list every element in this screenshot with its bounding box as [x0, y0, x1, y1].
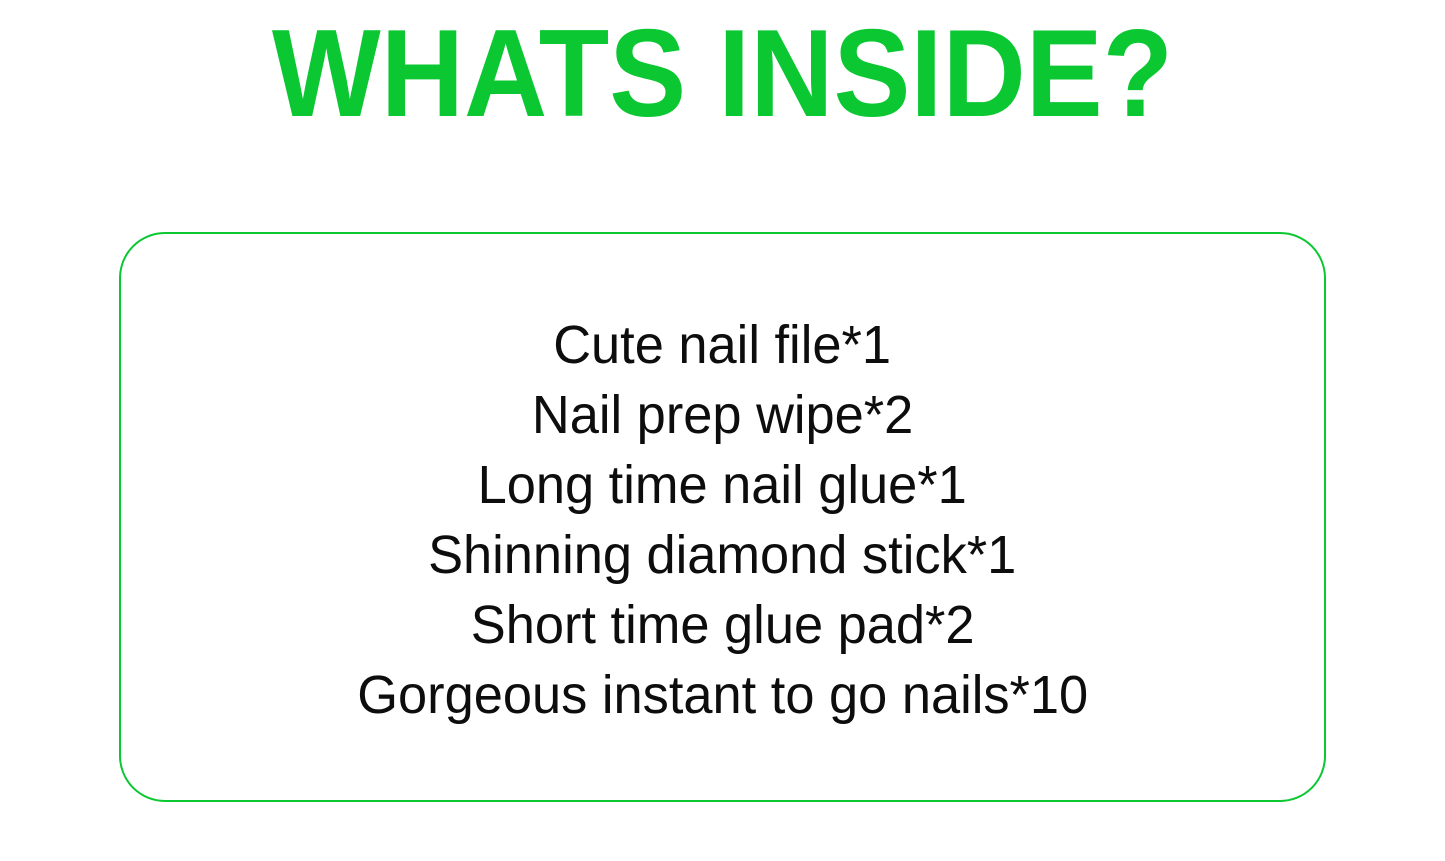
list-item: Gorgeous instant to go nails*10	[357, 660, 1088, 730]
list-item: Shinning diamond stick*1	[428, 520, 1016, 590]
list-item: Cute nail file*1	[554, 310, 892, 380]
list-item: Short time glue pad*2	[471, 590, 975, 660]
page-title: WHATS INSIDE?	[51, 12, 1395, 136]
contents-list: Cute nail file*1 Nail prep wipe*2 Long t…	[121, 234, 1324, 800]
list-item: Nail prep wipe*2	[532, 380, 913, 450]
slide-root: WHATS INSIDE? Cute nail file*1 Nail prep…	[0, 0, 1445, 861]
list-item: Long time nail glue*1	[478, 450, 967, 520]
contents-panel: Cute nail file*1 Nail prep wipe*2 Long t…	[119, 232, 1326, 802]
